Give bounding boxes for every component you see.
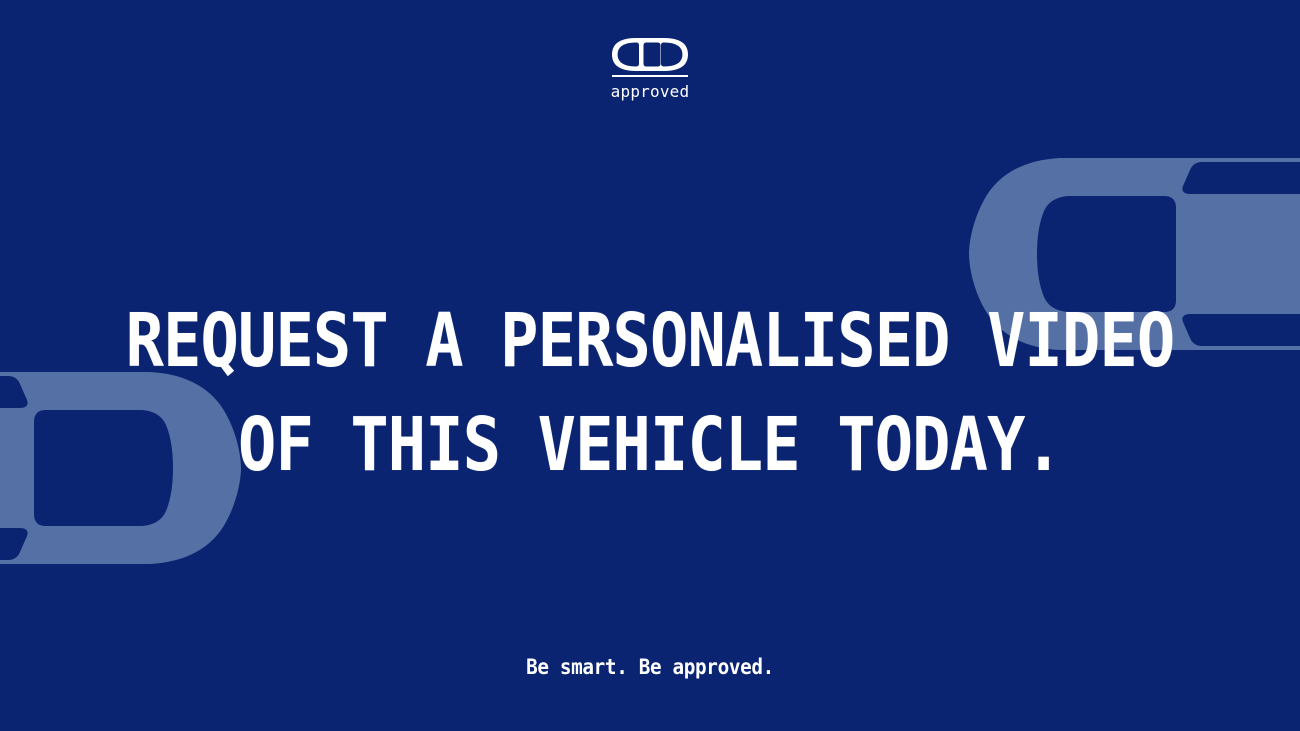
page-title: REQUEST A PERSONALISED VIDEO OF THIS VEH…	[0, 289, 1300, 497]
headline-line-2: OF THIS VEHICLE TODAY.	[91, 393, 1209, 497]
logo-wordmark: approved	[611, 82, 690, 101]
approved-car-top-view-icon	[612, 38, 688, 71]
promo-banner: approved REQUEST A PERSONALISED VIDEO OF…	[0, 0, 1300, 731]
logo-divider-rule	[612, 75, 688, 77]
brand-logo-lockup: approved	[0, 38, 1300, 101]
headline-line-1: REQUEST A PERSONALISED VIDEO	[91, 289, 1209, 393]
brand-tagline: Be smart. Be approved.	[52, 655, 1248, 679]
